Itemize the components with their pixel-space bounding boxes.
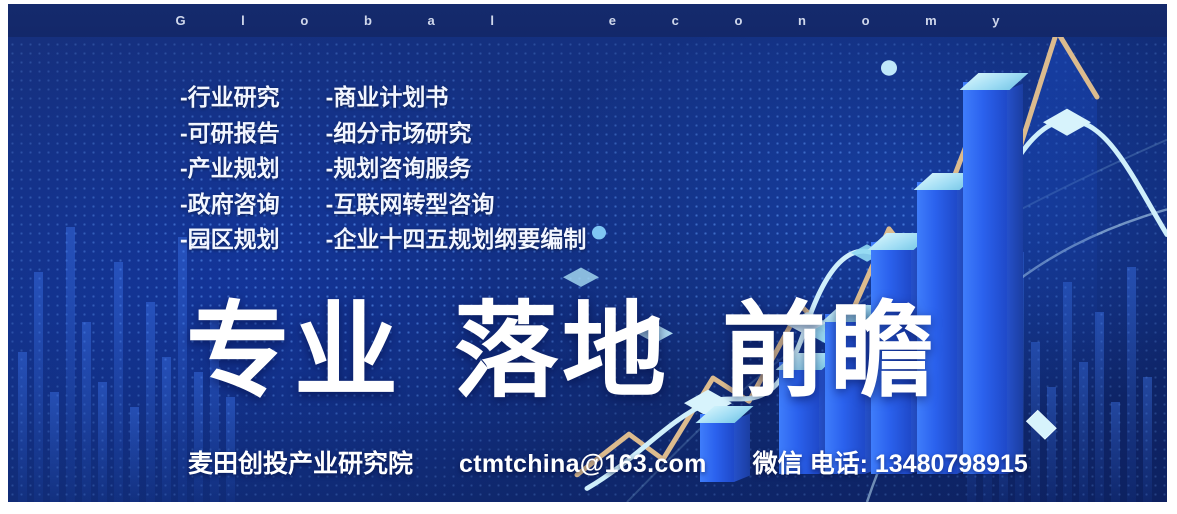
service-item: -可研报告 xyxy=(180,118,280,149)
contact-phone[interactable]: 微信 电话: 13480798915 xyxy=(753,444,1028,480)
service-item: -商业计划书 xyxy=(326,82,587,113)
service-column-left: -行业研究 -可研报告 -产业规划 -政府咨询 -园区规划 xyxy=(180,82,280,255)
headline: 专业 落地 前瞻 xyxy=(186,300,938,404)
service-item: -行业研究 xyxy=(180,82,280,113)
top-title-band: G l o b a l e c o n o m y xyxy=(8,4,1167,37)
service-item: -园区规划 xyxy=(180,224,280,255)
service-item: -产业规划 xyxy=(180,153,280,184)
headline-word-2: 落地 xyxy=(454,300,670,404)
email-address[interactable]: ctmtchina@163.com xyxy=(459,450,707,479)
banner-canvas: G l o b a l e c o n o m y -行业研究 -可研报告 -产… xyxy=(8,4,1167,502)
chart-bar-5 xyxy=(963,82,1007,474)
service-item: -细分市场研究 xyxy=(326,118,587,149)
headline-word-1: 专业 xyxy=(186,300,402,404)
organization-name: 麦田创投产业研究院 xyxy=(188,444,413,480)
economy-chart xyxy=(567,4,1167,502)
promo-banner: G l o b a l e c o n o m y -行业研究 -可研报告 -产… xyxy=(0,0,1177,514)
global-economy-label: G l o b a l e c o n o m y xyxy=(149,13,1025,28)
service-item: -企业十四五规划纲要编制 xyxy=(326,224,587,255)
service-item: -政府咨询 xyxy=(180,189,280,220)
footer-contact-row: 麦田创投产业研究院 ctmtchina@163.com 微信 电话: 13480… xyxy=(188,444,1028,480)
service-item: -互联网转型咨询 xyxy=(326,189,587,220)
service-list-group: -行业研究 -可研报告 -产业规划 -政府咨询 -园区规划 -商业计划书 -细分… xyxy=(180,82,586,255)
headline-word-3: 前瞻 xyxy=(722,300,938,404)
service-column-right: -商业计划书 -细分市场研究 -规划咨询服务 -互联网转型咨询 -企业十四五规划… xyxy=(326,82,587,255)
service-item: -规划咨询服务 xyxy=(326,153,587,184)
